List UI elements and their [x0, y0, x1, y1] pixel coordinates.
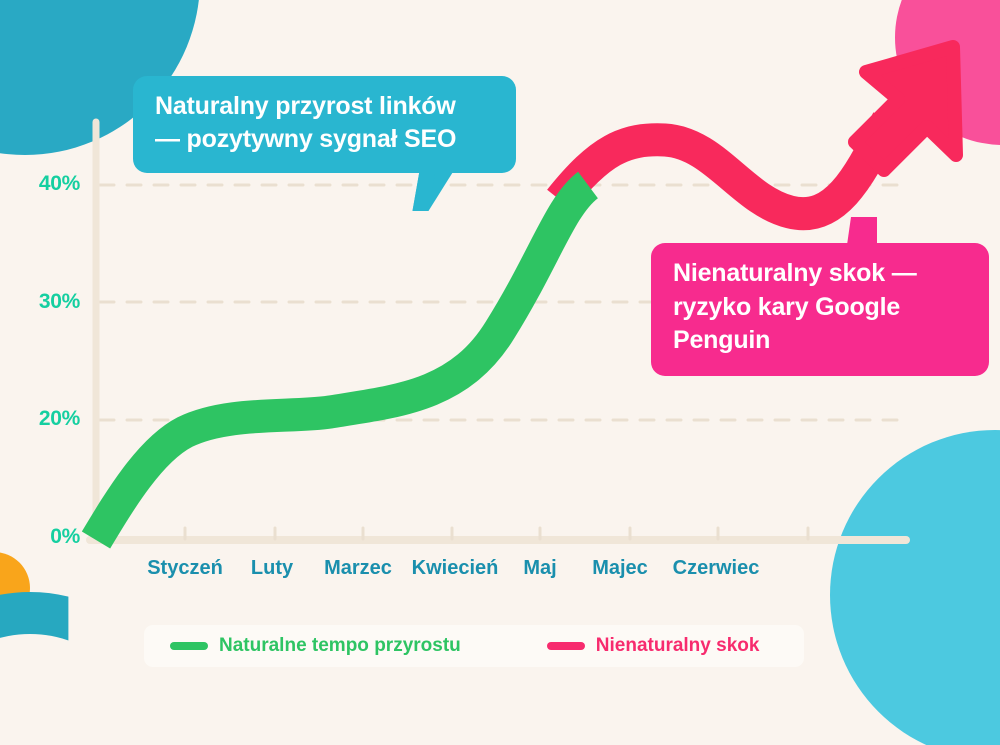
callout-unnatural-line3: Penguin	[673, 324, 969, 358]
x-tick-label-kwiecien: Kwiecień	[412, 557, 499, 580]
callout-natural-growth: Naturalny przyrost linków — pozytywny sy…	[133, 76, 516, 173]
legend-swatch-natural	[170, 642, 208, 650]
callout-natural-tail	[412, 171, 453, 211]
series-line-unnatural	[560, 120, 888, 214]
series-line-natural	[96, 185, 588, 540]
callout-unnatural-line1: Nienaturalny skok —	[673, 257, 969, 291]
chart-legend: Naturalne tempo przyrostu Nienaturalny s…	[144, 625, 804, 667]
legend-item-unnatural: Nienaturalny skok	[547, 635, 760, 657]
legend-label-natural: Naturalne tempo przyrostu	[219, 635, 461, 657]
y-tick-label-0: 0%	[8, 525, 80, 549]
y-tick-label-40: 40%	[8, 172, 80, 196]
y-tick-label-30: 30%	[8, 290, 80, 314]
x-tick-label-luty: Luty	[251, 557, 293, 580]
callout-unnatural-line2: ryzyko kary Google	[673, 291, 969, 325]
x-tick-label-majec: Majec	[592, 557, 648, 580]
callout-unnatural-tail	[847, 217, 877, 245]
y-tick-label-20: 20%	[8, 407, 80, 431]
legend-swatch-unnatural	[547, 642, 585, 650]
callout-unnatural-spike: Nienaturalny skok — ryzyko kary Google P…	[651, 243, 989, 376]
callout-natural-line2: — pozytywny sygnał SEO	[155, 123, 496, 156]
x-tick-label-marzec: Marzec	[324, 557, 392, 580]
legend-item-natural: Naturalne tempo przyrostu	[170, 635, 461, 657]
x-tick-label-czerwiec: Czerwiec	[673, 557, 760, 580]
arrow-head-icon	[855, 47, 956, 170]
x-tick-label-maj: Maj	[523, 557, 556, 580]
callout-natural-line1: Naturalny przyrost linków	[155, 90, 496, 123]
legend-label-unnatural: Nienaturalny skok	[596, 635, 760, 657]
x-tick-label-styczen: Styczeń	[147, 557, 223, 580]
infographic-canvas: 40% 30% 20% 0% Styczeń Luty Marzec Kwiec…	[0, 0, 1000, 745]
